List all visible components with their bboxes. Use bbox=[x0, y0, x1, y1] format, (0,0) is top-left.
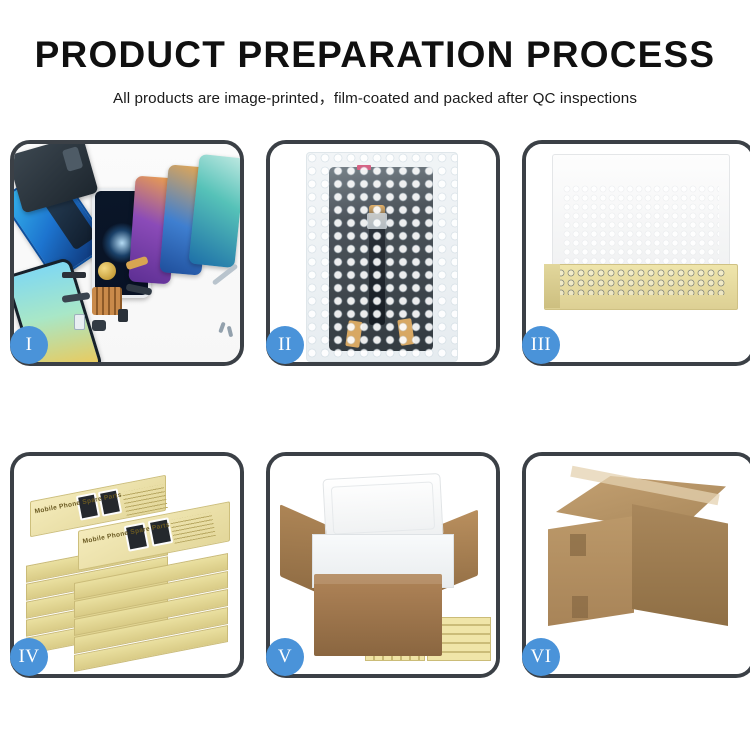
step-panel-1: I bbox=[10, 140, 244, 366]
tray-side-panel bbox=[544, 264, 560, 308]
step-6-image bbox=[526, 456, 750, 674]
speaker-disk-part bbox=[98, 262, 116, 280]
product-preparation-infographic: PRODUCT PREPARATION PROCESS All products… bbox=[0, 0, 750, 750]
small-part-1 bbox=[74, 314, 85, 330]
foam-lid bbox=[322, 473, 443, 543]
step-panel-6: VI bbox=[522, 452, 750, 678]
foam-sheet bbox=[563, 185, 719, 275]
screw-part-2 bbox=[227, 326, 234, 338]
steps-grid: I II bbox=[10, 140, 740, 680]
step-panel-5: V bbox=[266, 452, 500, 678]
screw-part-1 bbox=[218, 322, 226, 334]
yellow-tray-box bbox=[544, 264, 738, 310]
sealed-carton-side bbox=[632, 504, 728, 626]
step-5-image bbox=[270, 456, 496, 674]
step-4-image: Mobile Phone Spare Parts Mobile Phone Sp… bbox=[14, 456, 240, 674]
bubble-wrapped-contents bbox=[557, 269, 725, 295]
box-lid-open bbox=[552, 154, 730, 276]
carton-tab-top bbox=[570, 534, 586, 556]
bubble-wrap-bag bbox=[306, 152, 458, 362]
sealed-carton-front bbox=[548, 516, 634, 626]
step-badge-6: VI bbox=[522, 638, 560, 676]
carton-body bbox=[314, 574, 442, 656]
step-2-image bbox=[270, 144, 496, 362]
step-1-image bbox=[14, 144, 240, 362]
battery-part bbox=[118, 309, 128, 322]
step-badge-4: IV bbox=[10, 638, 48, 676]
step-badge-5: V bbox=[266, 638, 304, 676]
carton-tab-bottom bbox=[572, 596, 588, 618]
page-subtitle: All products are image-printed，film-coat… bbox=[0, 86, 750, 108]
bubble-texture bbox=[307, 153, 457, 361]
step-badge-3: III bbox=[522, 326, 560, 364]
box-stack: Mobile Phone Spare Parts Mobile Phone Sp… bbox=[20, 474, 236, 664]
step-panel-2: II bbox=[266, 140, 500, 366]
phone-back-housing bbox=[14, 144, 99, 214]
small-part-2 bbox=[92, 320, 106, 331]
step-badge-2: II bbox=[266, 326, 304, 364]
step-panel-4: Mobile Phone Spare Parts Mobile Phone Sp… bbox=[10, 452, 244, 678]
page-title: PRODUCT PREPARATION PROCESS bbox=[0, 36, 750, 75]
header: PRODUCT PREPARATION PROCESS All products… bbox=[0, 0, 750, 108]
earpiece-bar-part bbox=[62, 272, 86, 278]
step-panel-3: III bbox=[522, 140, 750, 366]
step-badge-1: I bbox=[10, 326, 48, 364]
step-3-image bbox=[526, 144, 750, 362]
